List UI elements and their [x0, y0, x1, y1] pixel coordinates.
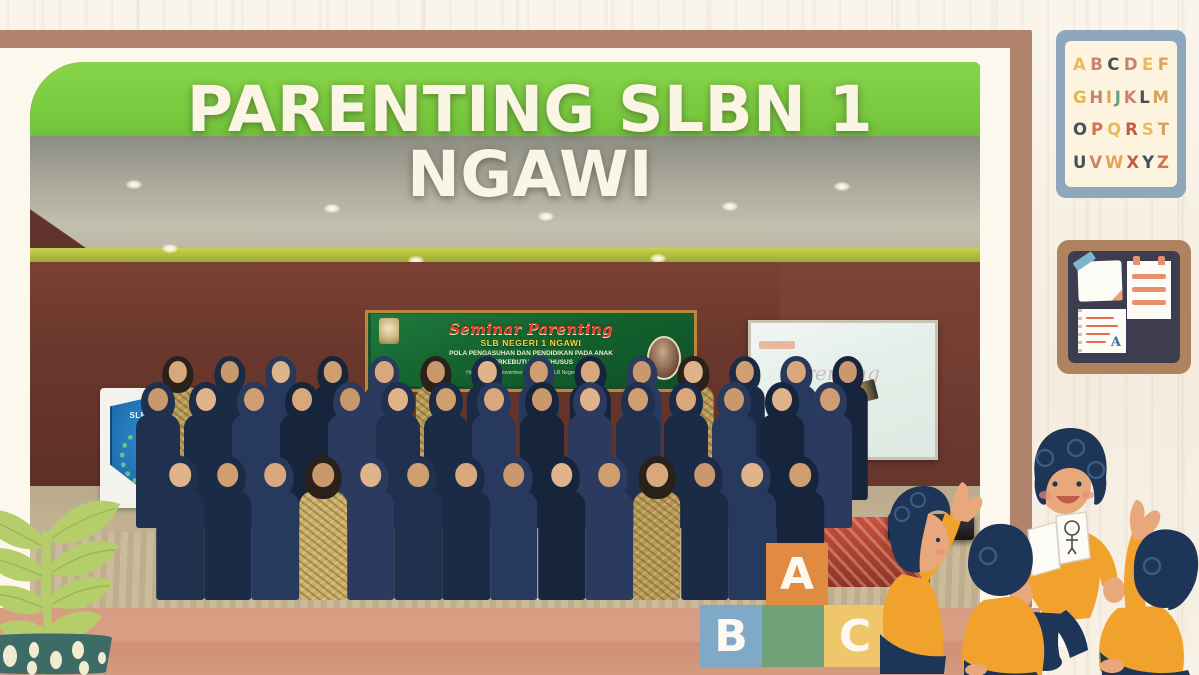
participant-face: [312, 463, 334, 488]
scribble-line: [1086, 317, 1114, 319]
adult-eye: [1052, 481, 1057, 486]
participant-face: [436, 388, 456, 411]
scribble-line: [1086, 325, 1118, 327]
potted-plant-illustration: [0, 468, 122, 675]
abc-block-a: A: [766, 543, 828, 605]
checklist-line: [1132, 274, 1166, 279]
scribble-line: [1086, 341, 1106, 343]
participant-face: [388, 388, 408, 411]
alphabet-letter-U: U: [1073, 155, 1086, 172]
child-left-eye: [936, 538, 940, 542]
alphabet-row-2: GHIJKLM: [1073, 90, 1169, 107]
participant-face: [340, 388, 360, 411]
participant-face: [292, 388, 312, 411]
participant-face: [169, 463, 191, 488]
notepad-note: A: [1078, 309, 1126, 353]
participant-face: [742, 463, 764, 488]
alphabet-letter-F: F: [1158, 57, 1169, 74]
participant-face: [789, 463, 811, 488]
alphabet-letter-S: S: [1142, 122, 1154, 139]
alphabet-letter-O: O: [1073, 122, 1087, 139]
sticky-note: [1077, 260, 1122, 302]
adult-right-hand: [1103, 577, 1125, 603]
alphabet-row-3: OPQRST: [1073, 122, 1169, 139]
participant-face: [503, 463, 525, 488]
participant-face: [484, 388, 504, 411]
alphabet-letter-Z: Z: [1157, 155, 1169, 172]
adult-eye: [1076, 481, 1081, 486]
participant-face: [694, 463, 716, 488]
participant-face: [244, 388, 264, 411]
corkboard-decoration: A: [1057, 240, 1191, 374]
participant-face: [820, 388, 840, 411]
plant-leaves: [0, 501, 120, 649]
participant-face: [196, 388, 216, 411]
alphabet-letter-J: J: [1115, 90, 1121, 107]
paper-curl: [1111, 289, 1122, 300]
participant-face: [265, 463, 287, 488]
participant-face: [580, 388, 600, 411]
participant-face: [676, 388, 696, 411]
alphabet-letter-A: A: [1073, 57, 1086, 74]
participant-face: [551, 463, 573, 488]
alphabet-letter-G: G: [1073, 90, 1087, 107]
abc-block-c: C: [824, 605, 886, 667]
slide-title: PARENTING SLBN 1 NGAWI: [150, 78, 910, 208]
alphabet-letter-H: H: [1089, 90, 1103, 107]
participant-face: [532, 388, 552, 411]
slide-canvas: Seminar Parenting SLB NEGERI 1 NGAWI POL…: [0, 0, 1199, 675]
abc-block-blank: [762, 605, 824, 667]
teacher-reading-to-children-illustration: [880, 412, 1199, 675]
alphabet-letter-V: V: [1089, 155, 1102, 172]
participant-face: [360, 463, 382, 488]
child-right-foot: [1100, 659, 1124, 673]
participant-face: [408, 463, 430, 488]
alphabet-letter-R: R: [1125, 122, 1138, 139]
participant-face: [217, 463, 239, 488]
checklist-line: [1132, 287, 1166, 292]
notepad-spiral: [1078, 309, 1082, 353]
alphabet-letter-T: T: [1158, 122, 1169, 139]
participant-face: [724, 388, 744, 411]
scribble-line: [1086, 333, 1110, 335]
pin-icon: [1133, 256, 1140, 265]
tape-strip-icon: [1073, 251, 1096, 271]
alphabet-row-1: ABCDEF: [1073, 57, 1169, 74]
checklist-line: [1132, 300, 1166, 305]
alphabet-letter-E: E: [1142, 57, 1153, 74]
corkboard-surface: A: [1068, 251, 1180, 363]
pin-icon: [1158, 256, 1165, 265]
alphabet-poster-paper: ABCDEFGHIJKLMOPQRSTUVWXYZ: [1065, 41, 1177, 187]
alphabet-letter-L: L: [1139, 90, 1150, 107]
participant-face: [646, 463, 668, 488]
alphabet-letter-Y: Y: [1142, 155, 1154, 172]
alphabet-letter-X: X: [1126, 155, 1139, 172]
alphabet-letter-Q: Q: [1107, 122, 1121, 139]
alphabet-letter-P: P: [1091, 122, 1103, 139]
participant-face: [148, 388, 168, 411]
abc-block-b: B: [700, 605, 762, 667]
checklist-note: [1127, 261, 1171, 319]
alphabet-poster: ABCDEFGHIJKLMOPQRSTUVWXYZ: [1056, 30, 1186, 198]
participant-face: [772, 388, 792, 411]
alphabet-row-4: UVWXYZ: [1073, 155, 1169, 172]
alphabet-letter-I: I: [1106, 90, 1112, 107]
alphabet-letter-B: B: [1090, 57, 1103, 74]
alphabet-letter-C: C: [1107, 57, 1119, 74]
participant-face: [598, 463, 620, 488]
alphabet-letter-W: W: [1105, 155, 1123, 172]
participant-face: [455, 463, 477, 488]
participant-face: [628, 388, 648, 411]
notepad-letter: A: [1111, 335, 1121, 350]
alphabet-letter-M: M: [1153, 90, 1169, 107]
alphabet-letter-D: D: [1124, 57, 1138, 74]
alphabet-letter-K: K: [1124, 90, 1137, 107]
